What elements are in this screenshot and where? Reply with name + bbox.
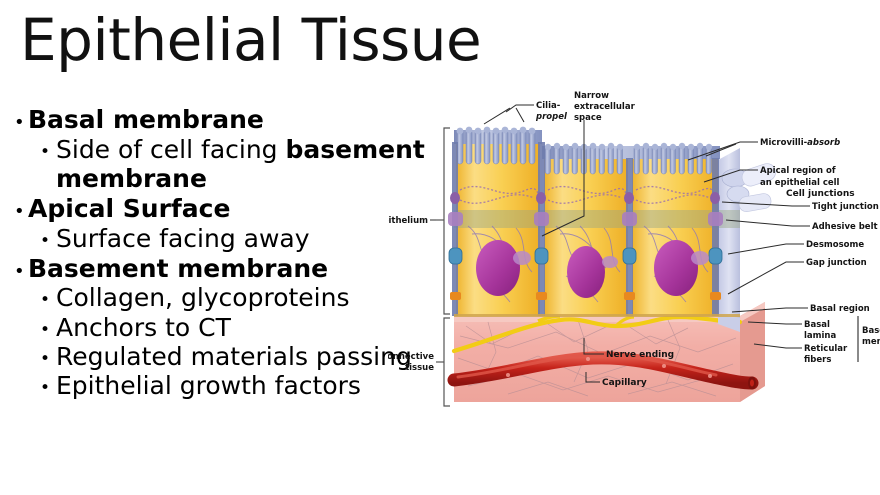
cell-nucleus [567,246,605,298]
epithelium-diagram: Cilia- propel Narrow extracellular space… [388,86,880,416]
connective-tissue-bracket [436,318,450,406]
bullet-icon: • [40,283,56,309]
label-narrow-space-line3: space [574,113,602,123]
cell-nucleus [476,240,520,296]
list-item-label: Anchors to CT [56,313,444,342]
label-basement-membrane-line1: Basement [862,326,880,336]
basal-lamina-line [454,314,740,317]
label-basal-lamina-line2: lamina [804,331,836,341]
bullet-icon: • [40,313,56,339]
bullet-icon: • [40,371,56,397]
list-item-label: Epithelial growth factors [56,371,444,400]
list-item[interactable]: • Regulated materials passing [14,342,444,371]
label-reticular-fibers-line2: fibers [804,355,831,365]
list-item[interactable]: • Epithelial growth factors [14,371,444,400]
label-tight-junction: Tight junction [812,202,879,212]
list-item-label: Basal membrane [28,105,444,135]
label-gap-junction: Gap junction [806,258,867,268]
label-connective-tissue-line1: Connective [388,352,434,362]
cilia-brush-border [454,127,542,164]
list-item[interactable]: • Surface facing away [14,224,444,253]
cell-nucleus [654,240,698,296]
label-apical-region-line2: an epithelial cell [760,178,840,188]
page-title: Epithelial Tissue [20,8,481,73]
list-item-label: Basement membrane [28,254,444,284]
label-basement-membrane-line2: membrane [862,337,880,347]
label-reticular-fibers-line1: Reticular [804,344,848,354]
list-item[interactable]: • Basal membrane [14,105,444,135]
list-item-text: Side of cell facing [56,135,286,164]
adhesive-belt-band [454,210,740,228]
label-cilia-line1: Cilia- [536,101,561,111]
bullet-icon: • [14,194,28,221]
bullet-icon: • [40,342,56,368]
label-adhesive-belt: Adhesive belt [812,222,878,232]
outline-list: • Basal membrane • Side of cell facing b… [14,104,444,400]
bullet-icon: • [40,135,56,161]
list-item[interactable]: • Side of cell facing basement membrane [14,135,444,194]
list-item[interactable]: • Collagen, glycoproteins [14,283,444,312]
bullet-icon: • [40,224,56,250]
epithelium-bracket [436,128,450,314]
label-cell-junctions-heading: Cell junctions [786,189,855,199]
list-item[interactable]: • Anchors to CT [14,313,444,342]
label-capillary: Capillary [602,378,647,388]
label-microvilli: Microvilli-absorb [760,138,840,148]
list-item-label: Collagen, glycoproteins [56,283,444,312]
label-narrow-space-line2: extracellular [574,102,636,112]
label-cilia-line2: propel [535,112,568,122]
bullet-icon: • [14,105,28,132]
label-apical-region-line1: Apical region of [760,166,836,176]
list-item-label: Apical Surface [28,194,444,224]
label-narrow-space-line1: Narrow [574,91,609,101]
list-item-label: Side of cell facing basement membrane [56,135,444,194]
list-item[interactable]: • Basement membrane [14,254,444,284]
label-epithelium: Epithelium [388,216,428,226]
epithelial-cell-layer [448,127,778,332]
list-item[interactable]: • Apical Surface [14,194,444,224]
list-item-label: Surface facing away [56,224,444,253]
label-basal-lamina-line1: Basal [804,320,830,330]
label-nerve-ending: Nerve ending [606,350,674,360]
label-desmosome: Desmosome [806,240,864,250]
label-connective-tissue-line2: tissue [405,363,434,373]
label-basal-region: Basal region [810,304,870,314]
bullet-icon: • [14,254,28,281]
list-item-label: Regulated materials passing [56,342,444,371]
